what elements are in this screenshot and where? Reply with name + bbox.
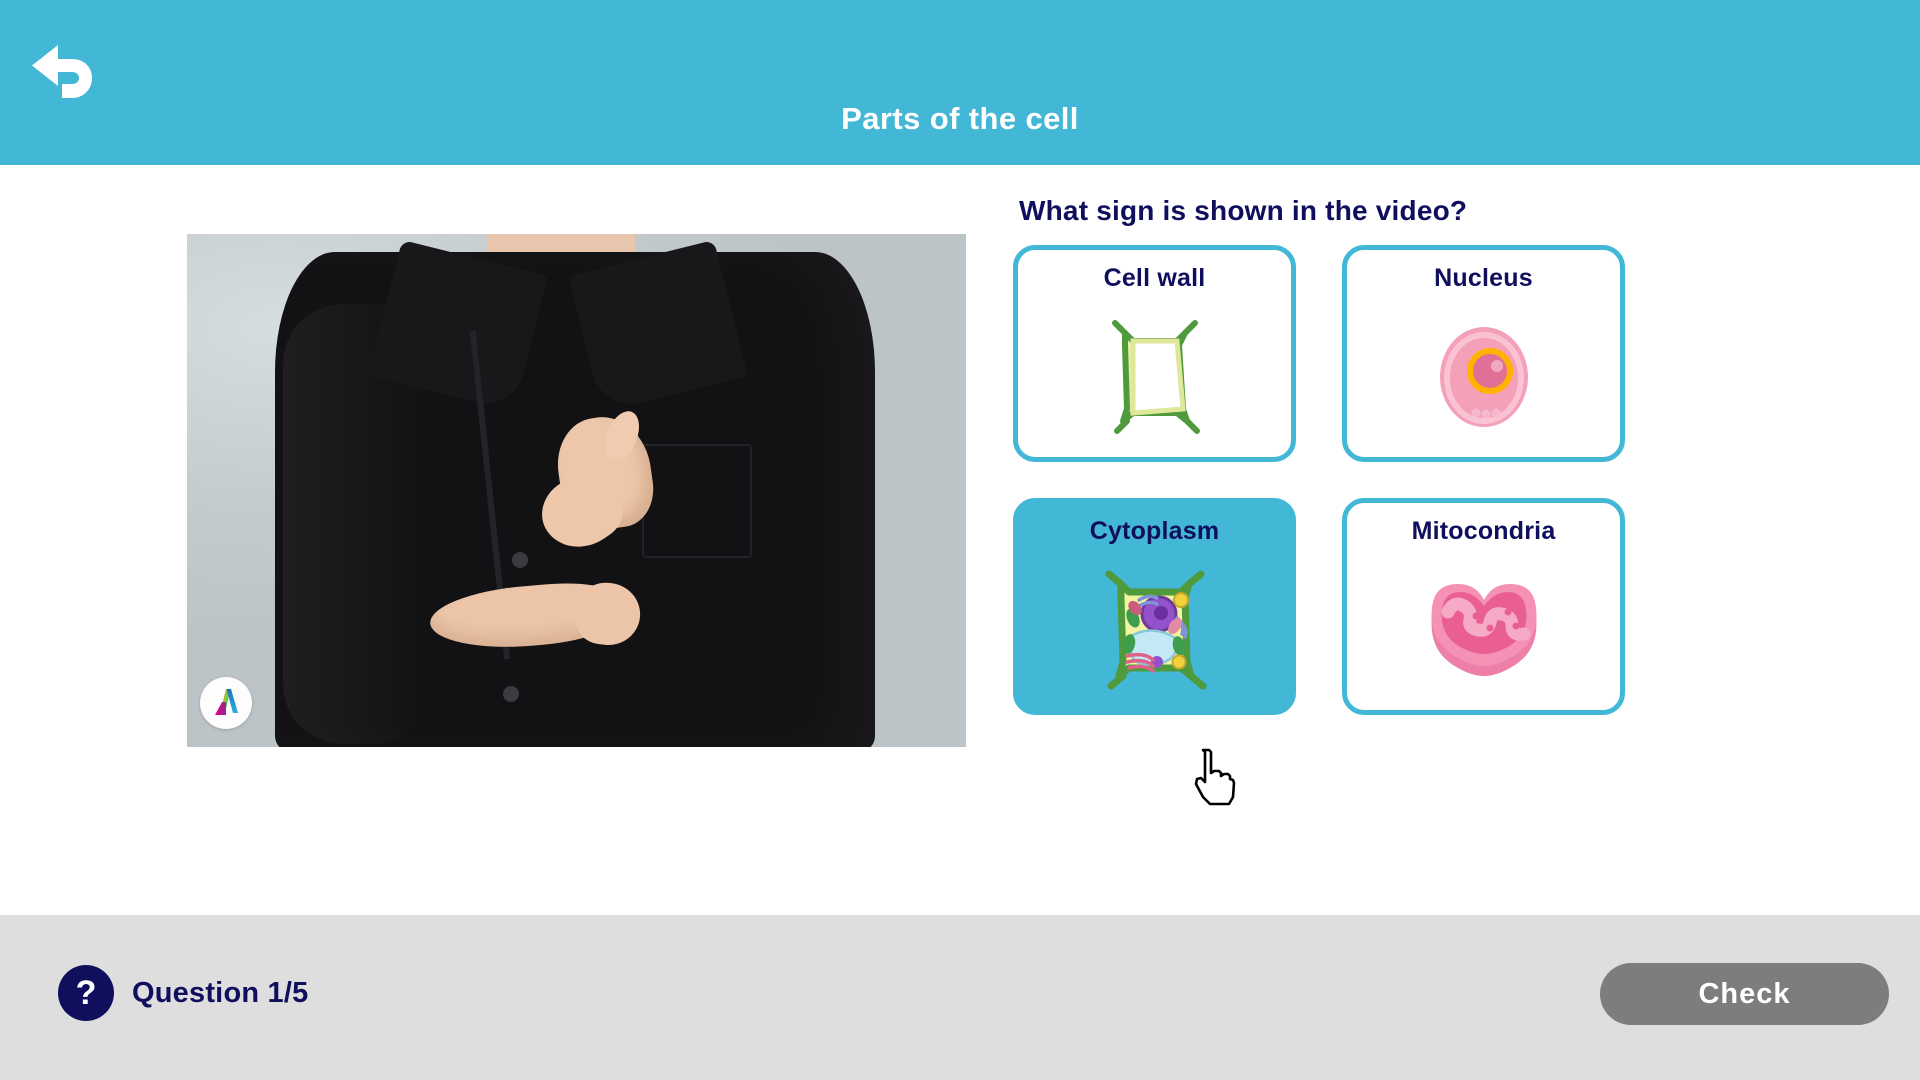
mitochondria-icon — [1424, 578, 1544, 682]
answer-option-mitocondria[interactable]: Mitocondria — [1342, 498, 1625, 715]
option-label: Mitocondria — [1412, 517, 1556, 546]
quiz-app: Parts of the cell — [0, 0, 1920, 1080]
jacket-button-upper — [512, 552, 528, 568]
option-label: Nucleus — [1434, 264, 1533, 293]
mouse-cursor — [1190, 747, 1236, 807]
option-illustration — [1018, 550, 1291, 710]
question-progress-label: Question 1/5 — [132, 977, 308, 1010]
quiz-question: What sign is shown in the video? — [1019, 195, 1653, 227]
jacket-pocket — [642, 444, 752, 558]
answer-option-cell-wall[interactable]: Cell wall — [1013, 245, 1296, 462]
answer-option-cytoplasm[interactable]: Cytoplasm — [1013, 498, 1296, 715]
option-label: Cytoplasm — [1090, 517, 1220, 546]
quiz-panel: What sign is shown in the video? Cell wa… — [1013, 195, 1653, 715]
sign-language-video[interactable] — [187, 234, 966, 747]
cytoplasm-icon — [1099, 566, 1211, 694]
jacket-button-lower — [503, 686, 519, 702]
option-illustration — [1347, 550, 1620, 710]
question-mark-icon: ? — [58, 965, 114, 1021]
nucleus-icon — [1430, 321, 1538, 433]
app-header: Parts of the cell — [0, 0, 1920, 165]
option-label: Cell wall — [1104, 264, 1206, 293]
cell-wall-icon — [1103, 317, 1207, 437]
check-button[interactable]: Check — [1600, 963, 1889, 1025]
main-content: What sign is shown in the video? Cell wa… — [0, 165, 1920, 915]
page-title: Parts of the cell — [0, 0, 1920, 165]
pointer-hand-cursor — [1190, 747, 1236, 807]
app-logo-icon — [209, 686, 243, 720]
app-footer: ? Question 1/5 Check — [0, 915, 1920, 1080]
answer-option-nucleus[interactable]: Nucleus — [1342, 245, 1625, 462]
option-illustration — [1018, 297, 1291, 457]
question-status: ? Question 1/5 — [58, 965, 308, 1021]
answer-options-grid: Cell wall Nucleus — [1013, 245, 1653, 715]
app-logo-watermark — [200, 677, 252, 729]
option-illustration — [1347, 297, 1620, 457]
